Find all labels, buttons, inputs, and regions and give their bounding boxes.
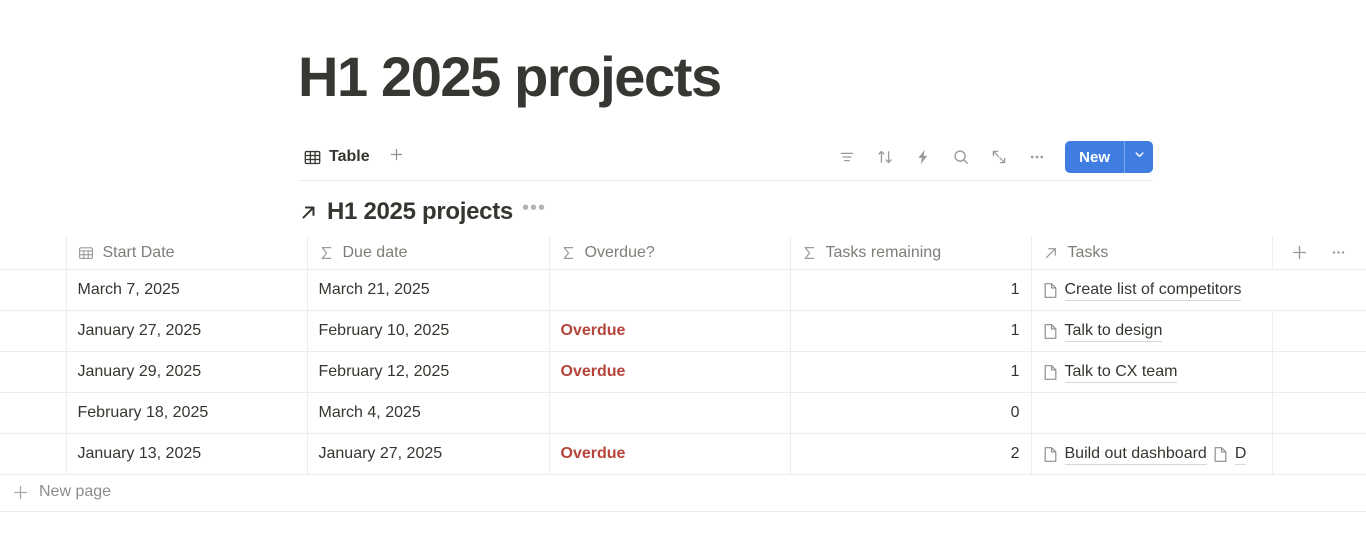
row-gutter <box>0 393 66 434</box>
page-icon <box>1043 446 1058 463</box>
automation-lightning-icon[interactable] <box>909 143 937 171</box>
cell-text: January 13, 2025 <box>67 434 307 474</box>
cell-tasks-remaining[interactable]: 1 <box>790 352 1031 393</box>
status-badge: Overdue <box>550 352 790 392</box>
cell-text: February 18, 2025 <box>67 393 307 433</box>
row-tail <box>1272 311 1366 352</box>
row-gutter <box>0 311 66 352</box>
cell-tasks[interactable]: Talk to CX team <box>1031 352 1272 393</box>
column-header-label: Tasks remaining <box>826 244 942 262</box>
column-header-label: Start Date <box>103 244 175 262</box>
page-icon <box>1043 364 1058 381</box>
calendar-icon <box>78 245 94 261</box>
database-more-options-icon[interactable]: ••• <box>522 203 546 221</box>
column-header-overdue[interactable]: Overdue? <box>549 236 790 270</box>
cell-text: March 4, 2025 <box>308 393 549 433</box>
row-tail <box>1272 393 1366 434</box>
column-header-label: Tasks <box>1068 244 1109 262</box>
filter-icon[interactable] <box>833 143 861 171</box>
cell-overdue[interactable]: Overdue <box>549 434 790 475</box>
task-label: Talk to CX team <box>1065 361 1178 383</box>
task-label: Build out dashboard <box>1065 443 1207 465</box>
tab-table[interactable]: Table <box>298 144 376 170</box>
cell-text: January 27, 2025 <box>67 311 307 351</box>
table-row[interactable]: January 13, 2025 January 27, 2025 Overdu… <box>0 434 1366 475</box>
add-column-button[interactable] <box>1291 244 1308 261</box>
cell-due-date[interactable]: January 27, 2025 <box>307 434 549 475</box>
new-page-label: New page <box>39 483 111 501</box>
add-view-button[interactable] <box>386 146 408 168</box>
cell-tasks[interactable]: Create list of competitors <box>1031 270 1366 311</box>
table-row[interactable]: February 18, 2025 March 4, 2025 0 <box>0 393 1366 434</box>
cell-tasks-remaining[interactable]: 1 <box>790 311 1031 352</box>
task-relation-chip[interactable]: Talk to design <box>1043 320 1163 342</box>
cell-overdue[interactable] <box>549 270 790 311</box>
relation-arrow-icon <box>1043 245 1059 261</box>
task-relation-chip[interactable]: Create list of competitors <box>1043 279 1242 301</box>
page-icon <box>1043 282 1058 299</box>
sort-icon[interactable] <box>871 143 899 171</box>
column-menu-more-icon[interactable] <box>1330 244 1347 261</box>
cell-tasks-remaining[interactable]: 1 <box>790 270 1031 311</box>
toolbar-divider <box>298 180 1153 181</box>
column-header-tasks[interactable]: Tasks <box>1031 236 1272 270</box>
new-button-dropdown[interactable] <box>1125 141 1153 173</box>
table-grid-icon <box>304 149 321 166</box>
formula-sigma-icon <box>561 245 576 261</box>
cell-start-date[interactable]: January 27, 2025 <box>66 311 307 352</box>
task-label: D <box>1235 443 1247 465</box>
cell-overdue[interactable] <box>549 393 790 434</box>
cell-text: 1 <box>791 352 1031 392</box>
database-title-row: H1 2025 projects ••• <box>299 197 546 227</box>
cell-text: March 7, 2025 <box>67 270 307 310</box>
cell-due-date[interactable]: March 21, 2025 <box>307 270 549 311</box>
collapse-icon[interactable] <box>985 143 1013 171</box>
task-relation-chip[interactable]: Build out dashboard <box>1043 443 1207 465</box>
cell-overdue[interactable]: Overdue <box>549 352 790 393</box>
column-header-label: Overdue? <box>585 244 655 262</box>
cell-tasks[interactable] <box>1031 393 1272 434</box>
cell-text <box>550 393 790 433</box>
new-button[interactable]: New <box>1065 141 1124 173</box>
cell-due-date[interactable]: March 4, 2025 <box>307 393 549 434</box>
column-header-gutter <box>0 236 66 270</box>
cell-tasks-remaining[interactable]: 2 <box>790 434 1031 475</box>
table-row[interactable]: January 27, 2025 February 10, 2025 Overd… <box>0 311 1366 352</box>
page-icon <box>1043 323 1058 340</box>
plus-icon <box>12 484 29 501</box>
row-tail <box>1272 434 1366 475</box>
cell-text: January 29, 2025 <box>67 352 307 392</box>
new-page-row[interactable]: New page <box>0 473 1366 512</box>
table-row[interactable]: March 7, 2025 March 21, 2025 1 <box>0 270 1366 311</box>
view-toolbar: Table <box>298 138 1153 176</box>
open-link-arrow-icon <box>299 203 318 222</box>
cell-overdue[interactable]: Overdue <box>549 311 790 352</box>
formula-sigma-icon <box>802 245 817 261</box>
cell-start-date[interactable]: January 29, 2025 <box>66 352 307 393</box>
table-row[interactable]: January 29, 2025 February 12, 2025 Overd… <box>0 352 1366 393</box>
row-gutter <box>0 270 66 311</box>
column-header-label: Due date <box>343 244 408 262</box>
row-gutter <box>0 352 66 393</box>
cell-tasks-remaining[interactable]: 0 <box>790 393 1031 434</box>
column-header-start-date[interactable]: Start Date <box>66 236 307 270</box>
cell-text: 1 <box>791 270 1031 310</box>
cell-due-date[interactable]: February 12, 2025 <box>307 352 549 393</box>
cell-start-date[interactable]: March 7, 2025 <box>66 270 307 311</box>
cell-text: March 21, 2025 <box>308 270 549 310</box>
status-badge: Overdue <box>550 311 790 351</box>
plus-icon <box>389 147 404 167</box>
chevron-down-icon <box>1133 148 1146 166</box>
toolbar-right-group: New <box>833 141 1153 173</box>
cell-text <box>550 270 790 310</box>
task-label: Talk to design <box>1065 320 1163 342</box>
new-button-group: New <box>1065 141 1153 173</box>
cell-tasks[interactable]: Talk to design <box>1031 311 1272 352</box>
tab-table-label: Table <box>329 148 370 166</box>
page-title: H1 2025 projects <box>298 44 721 110</box>
cell-text: 0 <box>791 393 1031 433</box>
cell-text: February 10, 2025 <box>308 311 549 351</box>
cell-text: January 27, 2025 <box>308 434 549 474</box>
status-badge: Overdue <box>550 434 790 474</box>
toolbar-left-group: Table <box>298 144 408 170</box>
database-title[interactable]: H1 2025 projects <box>327 198 513 227</box>
new-button-label: New <box>1079 149 1110 166</box>
cell-text: February 12, 2025 <box>308 352 549 392</box>
column-header-actions <box>1272 236 1366 270</box>
database-table: Start Date Due date <box>0 236 1366 475</box>
column-header-due-date[interactable]: Due date <box>307 236 549 270</box>
column-header-tasks-remaining[interactable]: Tasks remaining <box>790 236 1031 270</box>
more-options-icon[interactable] <box>1023 143 1051 171</box>
page-icon <box>1213 446 1228 463</box>
search-icon[interactable] <box>947 143 975 171</box>
row-gutter <box>0 434 66 475</box>
table-header-row: Start Date Due date <box>0 236 1366 270</box>
cell-start-date[interactable]: January 13, 2025 <box>66 434 307 475</box>
cell-text: 1 <box>791 311 1031 351</box>
table-body: March 7, 2025 March 21, 2025 1 <box>0 270 1366 475</box>
task-relation-chip[interactable]: D <box>1213 443 1247 465</box>
cell-tasks[interactable]: Build out dashboard D <box>1031 434 1272 475</box>
row-tail <box>1272 352 1366 393</box>
cell-start-date[interactable]: February 18, 2025 <box>66 393 307 434</box>
cell-text: 2 <box>791 434 1031 474</box>
task-relation-chip[interactable]: Talk to CX team <box>1043 361 1178 383</box>
cell-due-date[interactable]: February 10, 2025 <box>307 311 549 352</box>
formula-sigma-icon <box>319 245 334 261</box>
task-label: Create list of competitors <box>1065 279 1242 301</box>
